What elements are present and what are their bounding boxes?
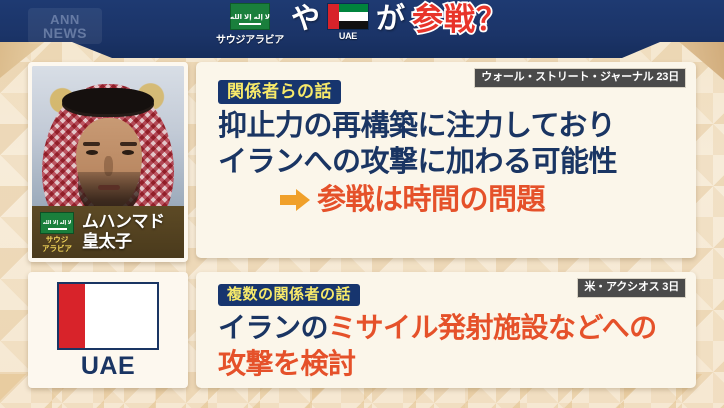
eye-left xyxy=(86,150,98,155)
caption-name-line-1: ムハンマド xyxy=(82,212,165,231)
uae-flag-black-stripe xyxy=(339,21,368,29)
mbs-photo-card: لا إله إلا الله サウジ アラビア ムハンマド 皇太子 xyxy=(28,62,188,262)
wsj-quote-panel: ウォール・ストリート・ジャーナル 23日 関係者らの話 抑止力の再構築に注力して… xyxy=(196,62,696,258)
uae-large-white-stripe xyxy=(85,305,157,326)
panel-bottom-line-2: 攻撃を検討 xyxy=(218,348,356,379)
header-content: ANN NEWS لا إله إلا الله サウジアラビア や UAE が xyxy=(0,0,724,58)
uae-flag-stripes xyxy=(339,4,368,29)
header-particle-ga: が xyxy=(376,5,405,34)
eyebrow-left xyxy=(83,142,100,146)
uae-flag-green-stripe xyxy=(339,4,368,12)
uae-large-black-stripe xyxy=(85,326,157,347)
ann-news-logo: ANN NEWS xyxy=(28,8,102,44)
eyebrow-right xyxy=(120,142,137,146)
panel-top-conclusion: 参戦は時間の問題 xyxy=(280,184,545,216)
news-graphic: ANN NEWS لا إله إلا الله サウジアラビア や UAE が xyxy=(0,0,724,408)
panel-bottom-line-1-orange: ミサイル発射施設などへの xyxy=(328,312,657,343)
uae-flag-white-stripe xyxy=(339,12,368,20)
mouth xyxy=(98,185,120,190)
caption-saudi-flag-icon: لا إله إلا الله xyxy=(40,212,74,234)
uae-large-red-band xyxy=(59,284,85,348)
caption-name-line-2: 皇太子 xyxy=(82,232,132,251)
panel-top-source-tag: ウォール・ストリート・ジャーナル 23日 xyxy=(474,68,686,88)
saudi-arabia-flag-icon: لا إله إلا الله xyxy=(230,3,270,30)
caption-country-line-1: サウジ xyxy=(46,235,69,244)
header-uae-label: UAE xyxy=(339,31,357,41)
uae-card-label: UAE xyxy=(81,354,135,379)
panel-bottom-line-1: イランのミサイル発射施設などへの xyxy=(218,312,657,343)
header-conjunction-ya: や xyxy=(291,5,320,34)
panel-top-line-2: イランへの攻撃に加わる可能性 xyxy=(218,146,617,178)
caption-flag-sword xyxy=(48,228,67,229)
photo-caption-bar: لا إله إلا الله サウジ アラビア ムハンマド 皇太子 xyxy=(32,206,184,258)
caption-country-label: サウジ アラビア xyxy=(42,235,72,253)
panel-bottom-source-tag: 米・アクシオス 3日 xyxy=(577,278,686,298)
uae-flag-red-band xyxy=(328,4,339,29)
uae-large-flag-icon xyxy=(57,282,159,350)
uae-flag-card: UAE xyxy=(28,272,188,388)
panel-top-line-1: 抑止力の再構築に注力しており xyxy=(218,110,615,142)
caption-flag-block: لا إله إلا الله サウジ アラビア xyxy=(38,212,76,253)
caption-person-name: ムハンマド 皇太子 xyxy=(82,212,165,252)
axios-quote-panel: 米・アクシオス 3日 複数の関係者の話 イランのミサイル発射施設などへの 攻撃を… xyxy=(196,272,696,388)
logo-line-2: NEWS xyxy=(43,26,87,40)
header-saudi-label: サウジアラビア xyxy=(216,31,284,46)
uae-flag-icon xyxy=(327,3,369,30)
panel-bottom-badge: 複数の関係者の話 xyxy=(218,284,360,306)
saudi-flag-script: لا إله إلا الله xyxy=(230,13,270,20)
agal-cord xyxy=(62,88,154,114)
header-question-text: 参戦？ xyxy=(412,4,508,35)
panel-top-conclusion-text: 参戦は時間の問題 xyxy=(317,184,545,216)
panel-top-badge: 関係者らの話 xyxy=(218,80,341,104)
logo-line-1: ANN xyxy=(50,13,80,26)
panel-bottom-line-2-orange: 攻撃を検討 xyxy=(218,348,356,379)
header-saudi-flag-block: لا إله إلا الله サウジアラビア xyxy=(216,3,284,46)
saudi-flag-sword xyxy=(239,23,261,25)
caption-country-line-2: アラビア xyxy=(42,244,72,253)
header-uae-flag-block: UAE xyxy=(327,3,369,41)
right-arrow-icon xyxy=(280,188,310,212)
uae-large-stripes xyxy=(85,284,157,348)
uae-large-green-stripe xyxy=(85,284,157,305)
caption-flag-script: لا إله إلا الله xyxy=(43,220,72,226)
eye-right xyxy=(122,150,134,155)
panel-bottom-line-1-navy: イランの xyxy=(218,312,328,343)
